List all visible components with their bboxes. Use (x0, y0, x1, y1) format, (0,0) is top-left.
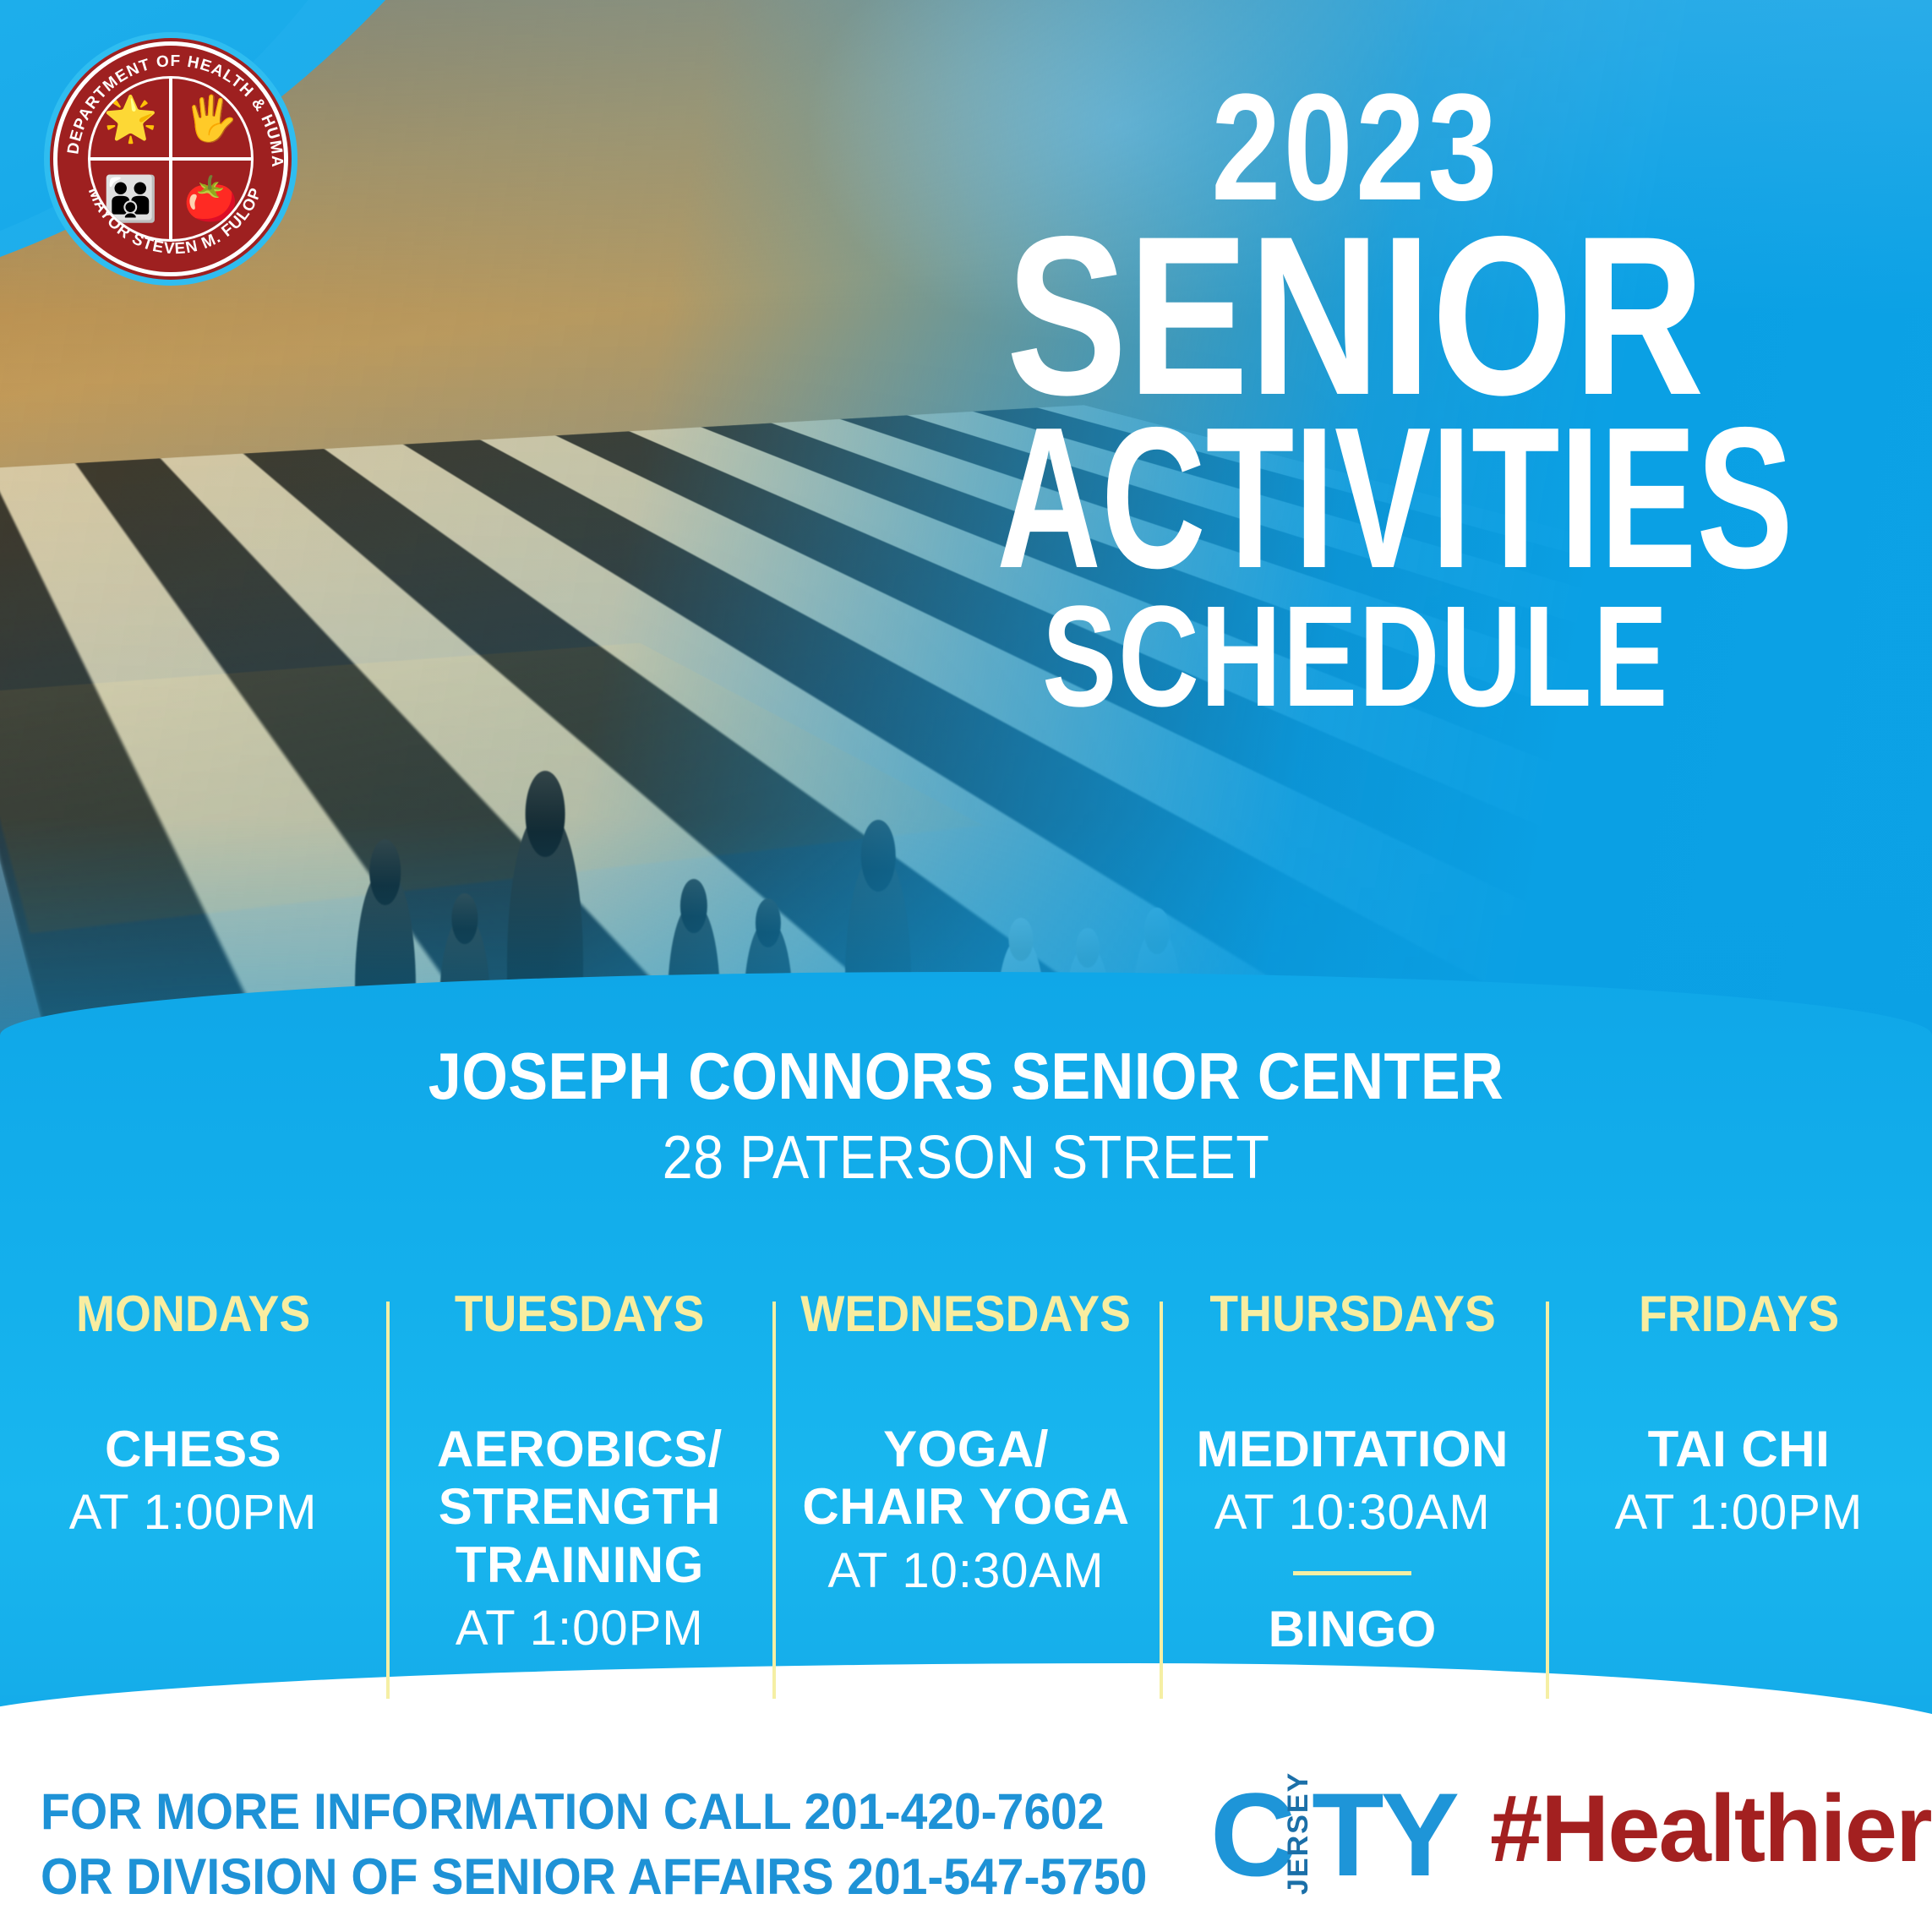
title-line-3: SCHEDULE (967, 591, 1744, 723)
activity-time: AT 1:00PM (398, 1599, 761, 1658)
day-header: TUESDAYS (412, 1285, 746, 1343)
activity-name: TAI CHI (1558, 1421, 1920, 1478)
venue-name: JOSEPH CONNORS SENIOR CENTER (96, 1038, 1835, 1115)
jc-logo-ty: TY (1312, 1787, 1456, 1884)
day-header: WEDNESDAYS (800, 1285, 1133, 1343)
contact-line-2: OR DIVISION OF SENIOR AFFAIRS 201-547-57… (41, 1845, 1147, 1910)
seal-quadrant-produce: 🍅 (171, 159, 251, 239)
activity-time: AT 1:00PM (12, 1483, 374, 1542)
activity-entry: BINGOAT 1:00PM (1171, 1601, 1534, 1722)
activity-name: CHESS (12, 1421, 374, 1478)
seal-divider-horizontal (90, 157, 251, 161)
contact-line-1: FOR MORE INFORMATION CALL 201-420-7602 (41, 1780, 1147, 1845)
seal-quadrant-ribbon: 🌟 (90, 79, 171, 159)
venue-block: JOSEPH CONNORS SENIOR CENTER 28 PATERSON… (0, 1038, 1932, 1192)
activity-time: AT 10:30AM (784, 1542, 1147, 1601)
title-line-1: SENIOR (957, 218, 1755, 412)
activity-name: BINGO (1171, 1601, 1534, 1658)
seal-quadrant-family: 👪 (90, 159, 171, 239)
seal-outer-ring: JERSEY CITY DEPARTMENT OF HEALTH & HUMAN… (53, 41, 288, 276)
schedule-column-fridays: FRIDAYSTAI CHIAT 1:00PM (1546, 1285, 1932, 1741)
title-line-2: ACTIVITIES (996, 412, 1715, 586)
activity-time: AT 1:00PM (1171, 1663, 1534, 1722)
seal-quadrant-hands: 🖐 (171, 79, 251, 159)
day-header: FRIDAYS (1572, 1285, 1906, 1343)
activity-entry: MEDITATIONAT 10:30AM (1171, 1421, 1534, 1542)
day-header: MONDAYS (26, 1285, 360, 1343)
venue-address: 28 PATERSON STREET (96, 1123, 1835, 1192)
footer-section: FOR MORE INFORMATION CALL 201-420-7602 O… (0, 1741, 1932, 1932)
seal-emblem: 🌟 🖐 👪 🍅 (88, 76, 254, 242)
contact-info: FOR MORE INFORMATION CALL 201-420-7602 O… (0, 1741, 1205, 1910)
healthier-jc-hashtag: #HealthierJC (1490, 1782, 1932, 1876)
jc-logo-c: C (1210, 1787, 1291, 1884)
activity-entry: TAI CHIAT 1:00PM (1558, 1421, 1920, 1542)
activity-time: AT 10:30AM (1171, 1483, 1534, 1542)
footer-logos: C JERSEY TY #HealthierJC (1210, 1782, 1932, 1888)
weekly-schedule-grid: MONDAYSCHESSAT 1:00PMTUESDAYSAEROBICS/ST… (0, 1285, 1932, 1741)
city-seal-logo: JERSEY CITY DEPARTMENT OF HEALTH & HUMAN… (44, 32, 297, 286)
activity-name: MEDITATION (1171, 1421, 1534, 1478)
jc-logo-jersey: JERSEY (1282, 1786, 1315, 1880)
poster-title-block: 2023 SENIOR ACTIVITIES SCHEDULE (857, 78, 1854, 723)
schedule-column-mondays: MONDAYSCHESSAT 1:00PM (0, 1285, 386, 1741)
poster-root: JERSEY CITY DEPARTMENT OF HEALTH & HUMAN… (0, 0, 1932, 1932)
day-header: THURSDAYS (1186, 1285, 1520, 1343)
activity-entry: CHESSAT 1:00PM (12, 1421, 374, 1542)
schedule-column-thursdays: THURSDAYSMEDITATIONAT 10:30AMBINGOAT 1:0… (1160, 1285, 1546, 1741)
schedule-column-wednesdays: WEDNESDAYSYOGA/CHAIR YOGAAT 10:30AM (772, 1285, 1159, 1741)
schedule-column-tuesdays: TUESDAYSAEROBICS/STRENGTHTRAININGAT 1:00… (386, 1285, 772, 1741)
hero-section: JERSEY CITY DEPARTMENT OF HEALTH & HUMAN… (0, 0, 1932, 1048)
activity-name: YOGA/CHAIR YOGA (784, 1421, 1147, 1536)
jersey-city-logo: C JERSEY TY (1210, 1786, 1456, 1884)
activity-entry: YOGA/CHAIR YOGAAT 10:30AM (784, 1421, 1147, 1600)
activity-entry: AEROBICS/STRENGTHTRAININGAT 1:00PM (398, 1421, 761, 1658)
activity-separator (1293, 1571, 1411, 1575)
activity-name: AEROBICS/STRENGTHTRAINING (398, 1421, 761, 1594)
activity-time: AT 1:00PM (1558, 1483, 1920, 1542)
